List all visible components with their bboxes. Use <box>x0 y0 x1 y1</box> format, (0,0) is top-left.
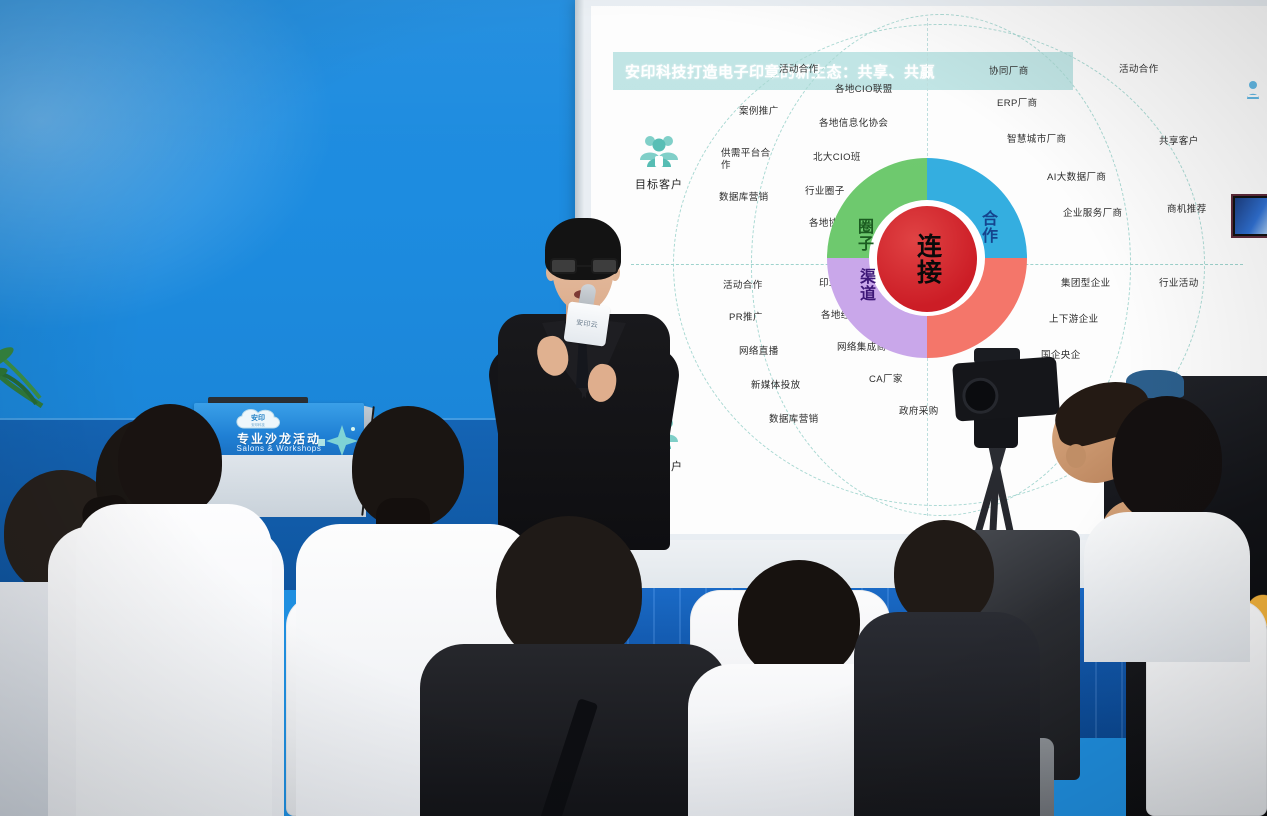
tr-outer-2: 商机推荐 <box>1167 204 1207 216</box>
target-customer-icon <box>623 134 695 173</box>
tr-outer-0: 活动合作 <box>1119 64 1159 76</box>
audience-head <box>1112 396 1222 524</box>
segment-label-qudao: 渠道 <box>857 268 873 302</box>
potted-plant <box>0 318 62 408</box>
tr-outer-1: 共享客户 <box>1159 136 1199 148</box>
audience-member <box>70 404 270 816</box>
eyeglasses-icon <box>549 258 619 274</box>
tr-inner-3: AI大数据厂商 <box>1047 172 1106 184</box>
persona-label: 目标客户 <box>635 179 683 191</box>
conference-photo-scene: 安印科技打造电子印章的新生态：共享、共赢 <box>0 0 1267 816</box>
bl-inner-3: CA厂家 <box>869 374 903 386</box>
bl-outer-4: 数据库营销 <box>769 414 819 426</box>
tr-inner-2: 智慧城市厂商 <box>1007 134 1066 146</box>
audience-torso <box>1084 512 1250 662</box>
monitor-display <box>1235 198 1267 234</box>
audience-member <box>1086 396 1236 696</box>
operator-ear <box>1066 444 1086 468</box>
glasses-bridge <box>577 265 591 267</box>
tl-outer-1: 案例推广 <box>739 106 779 118</box>
segment-label-quanzi: 圈子 <box>855 218 871 252</box>
audience-torso <box>76 504 272 816</box>
tr-inner-0: 协同厂商 <box>989 66 1029 78</box>
audience-head <box>738 560 860 680</box>
person-icon <box>1245 80 1261 105</box>
tl-inner-0: 各地CIO联盟 <box>835 84 893 96</box>
tr-inner-4: 企业服务厂商 <box>1063 208 1122 220</box>
lens-left <box>550 258 577 274</box>
persona-target-customer-top: 目标客户 <box>623 134 695 193</box>
bl-outer-1: PR推广 <box>729 312 763 324</box>
tl-outer-0: 活动合作 <box>779 64 819 76</box>
microphone-flag-text: 安印云 <box>566 316 609 332</box>
lens-right <box>591 258 618 274</box>
microphone-flag: 安印云 <box>563 301 610 346</box>
wall-monitor <box>1231 194 1267 238</box>
donut-hub: 连接 <box>877 206 977 312</box>
ecosystem-donut-chart: 连接 圈子 合作 渠道 <box>827 158 1027 358</box>
audience-member <box>850 520 1040 816</box>
segment-label-hezuo: 合作 <box>979 210 995 244</box>
bl-outer-0: 活动合作 <box>723 280 763 292</box>
audience-head <box>894 520 994 626</box>
donut-hub-label: 连接 <box>915 233 940 285</box>
audience-member <box>430 516 720 816</box>
br-inner-0: 集团型企业 <box>1061 278 1111 290</box>
tl-inner-1: 各地信息化协会 <box>819 118 888 130</box>
bl-outer-2: 网络直播 <box>739 346 779 358</box>
bl-outer-3: 新媒体投放 <box>751 380 801 392</box>
br-outer-0: 行业活动 <box>1159 278 1199 290</box>
camera-lens-icon <box>961 377 999 415</box>
audience-torso <box>854 612 1040 816</box>
audience-head <box>118 404 222 518</box>
br-inner-1: 上下游企业 <box>1049 314 1099 326</box>
tl-outer-3: 数据库营销 <box>719 192 769 204</box>
tr-inner-1: ERP厂商 <box>997 98 1038 110</box>
tl-outer-2: 供需平台合作 <box>721 148 773 172</box>
